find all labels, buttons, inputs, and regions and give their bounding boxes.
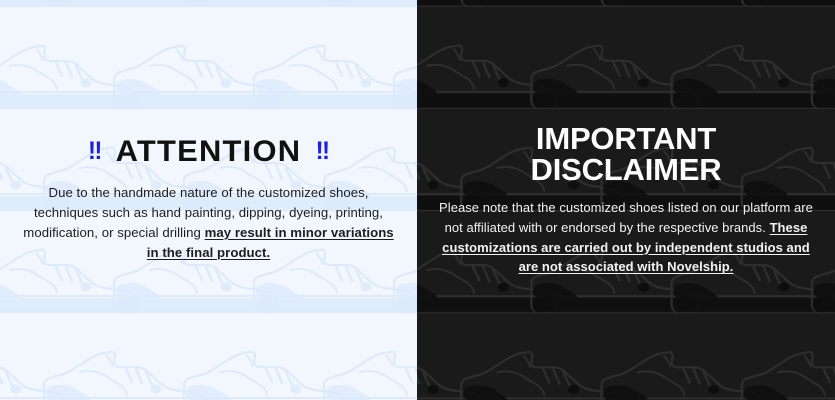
disclaimer-panel: IMPORTANT DISCLAIMER Please note that th… — [417, 0, 835, 400]
attention-body: Due to the handmade nature of the custom… — [22, 183, 395, 263]
customization-disclaimer-banner: ‼ ATTENTION ‼ Due to the handmade nature… — [0, 0, 835, 400]
attention-heading: ‼ ATTENTION ‼ — [16, 137, 400, 168]
attention-content: ‼ ATTENTION ‼ Due to the handmade nature… — [0, 137, 417, 263]
disclaimer-body: Please note that the customized shoes li… — [439, 198, 813, 277]
disclaimer-content: IMPORTANT DISCLAIMER Please note that th… — [417, 123, 835, 277]
disclaimer-heading-line-2: DISCLAIMER — [439, 154, 813, 185]
disclaimer-body-normal: Please note that the customized shoes li… — [439, 200, 813, 235]
disclaimer-heading: IMPORTANT DISCLAIMER — [439, 123, 813, 185]
attention-heading-text: ATTENTION — [116, 137, 302, 168]
double-exclamation-right-icon: ‼ — [315, 139, 328, 165]
attention-panel: ‼ ATTENTION ‼ Due to the handmade nature… — [0, 0, 417, 400]
double-exclamation-left-icon: ‼ — [88, 139, 101, 165]
disclaimer-heading-line-1: IMPORTANT — [439, 123, 813, 154]
